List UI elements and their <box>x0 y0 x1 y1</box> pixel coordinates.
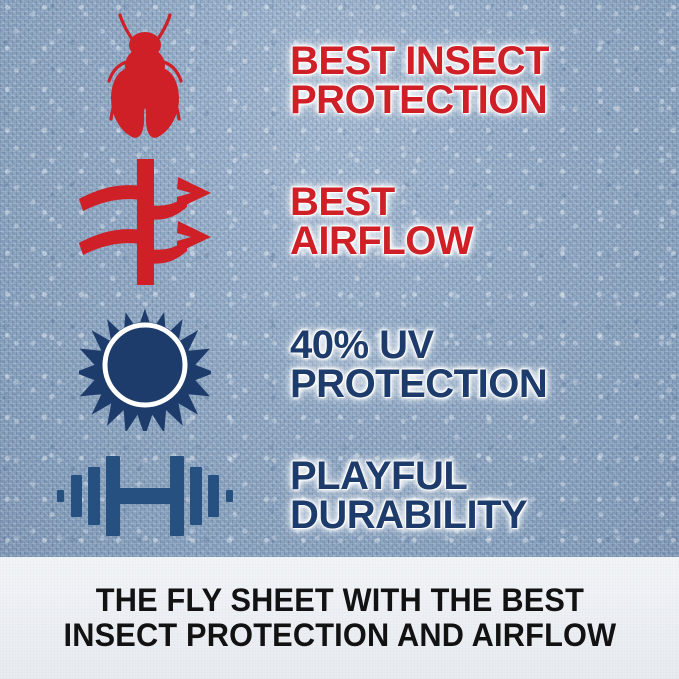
airflow-arrows-icon <box>65 157 225 287</box>
label-cell-durability: PLAYFUL DURABILITY <box>290 457 679 535</box>
feature-row-uv-protection: 40% UV PROTECTION <box>0 292 679 438</box>
feature-label-airflow: BEST AIRFLOW <box>290 183 671 261</box>
product-feature-poster: BEST INSECT PROTECTION <box>0 0 679 679</box>
feature-row-airflow: BEST AIRFLOW <box>0 156 679 288</box>
label-cell-uv: 40% UV PROTECTION <box>290 326 679 404</box>
caption-strip: THE FLY SHEET WITH THE BEST INSECT PROTE… <box>0 557 679 679</box>
icon-cell-uv <box>0 299 290 431</box>
icon-cell-durability <box>0 448 290 544</box>
feature-row-durability: PLAYFUL DURABILITY <box>0 440 679 552</box>
feature-label-uv-protection: 40% UV PROTECTION <box>290 326 671 404</box>
caption-text: THE FLY SHEET WITH THE BEST INSECT PROTE… <box>57 583 621 652</box>
dumbbell-icon <box>55 448 235 544</box>
icon-cell-insect <box>0 11 290 151</box>
feature-label-durability: PLAYFUL DURABILITY <box>290 457 671 535</box>
feature-list: BEST INSECT PROTECTION <box>0 0 679 557</box>
label-cell-airflow: BEST AIRFLOW <box>290 183 679 261</box>
label-cell-insect: BEST INSECT PROTECTION <box>290 42 679 120</box>
fly-icon <box>80 11 210 151</box>
icon-cell-airflow <box>0 157 290 287</box>
feature-row-insect-protection: BEST INSECT PROTECTION <box>0 6 679 156</box>
sun-icon <box>79 299 211 431</box>
feature-label-insect-protection: BEST INSECT PROTECTION <box>290 42 671 120</box>
